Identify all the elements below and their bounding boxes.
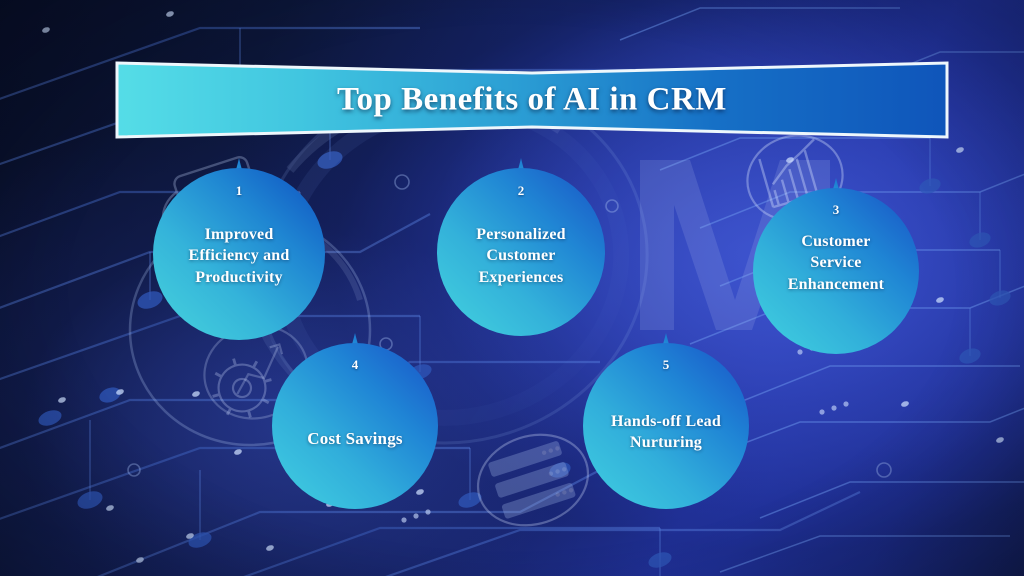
benefit-node-3[interactable]: 3 Customer Service Enhancement [753,178,919,354]
benefit-label-1: Improved Efficiency and Productivity [159,224,319,288]
benefit-label-line: Service [756,252,916,273]
benefit-label-4: Cost Savings [275,428,435,451]
benefit-label-line: Nurturing [585,432,747,453]
benefit-number-3: 3 [833,202,840,218]
benefit-number-1: 1 [236,183,243,199]
benefit-number-2: 2 [518,183,525,199]
slide-canvas: Top Benefits of AI in CRM 1 Improved Eff… [0,0,1024,576]
benefit-label-line: Cost Savings [275,428,435,451]
benefit-label-line: Customer [756,231,916,252]
benefit-label-line: Productivity [159,267,319,288]
benefit-label-line: Improved [159,224,319,245]
benefit-label-line: Efficiency and [159,245,319,266]
benefit-label-line: Experiences [442,267,600,288]
benefit-label-line: Customer [442,245,600,266]
title-banner: Top Benefits of AI in CRM [114,60,950,140]
benefit-label-5: Hands-off Lead Nurturing [585,411,747,454]
page-title: Top Benefits of AI in CRM [114,82,950,119]
benefit-label-3: Customer Service Enhancement [756,231,916,295]
benefit-label-line: Enhancement [756,274,916,295]
benefit-number-5: 5 [663,357,670,373]
benefit-node-1[interactable]: 1 Improved Efficiency and Productivity [153,158,325,340]
benefit-number-4: 4 [352,357,359,373]
benefit-label-line: Hands-off Lead [585,411,747,432]
benefit-node-4[interactable]: 4 Cost Savings [272,333,438,509]
benefit-node-2[interactable]: 2 Personalized Customer Experiences [437,158,605,336]
benefit-label-2: Personalized Customer Experiences [442,224,600,288]
benefit-label-line: Personalized [442,224,600,245]
benefit-node-5[interactable]: 5 Hands-off Lead Nurturing [583,333,749,509]
